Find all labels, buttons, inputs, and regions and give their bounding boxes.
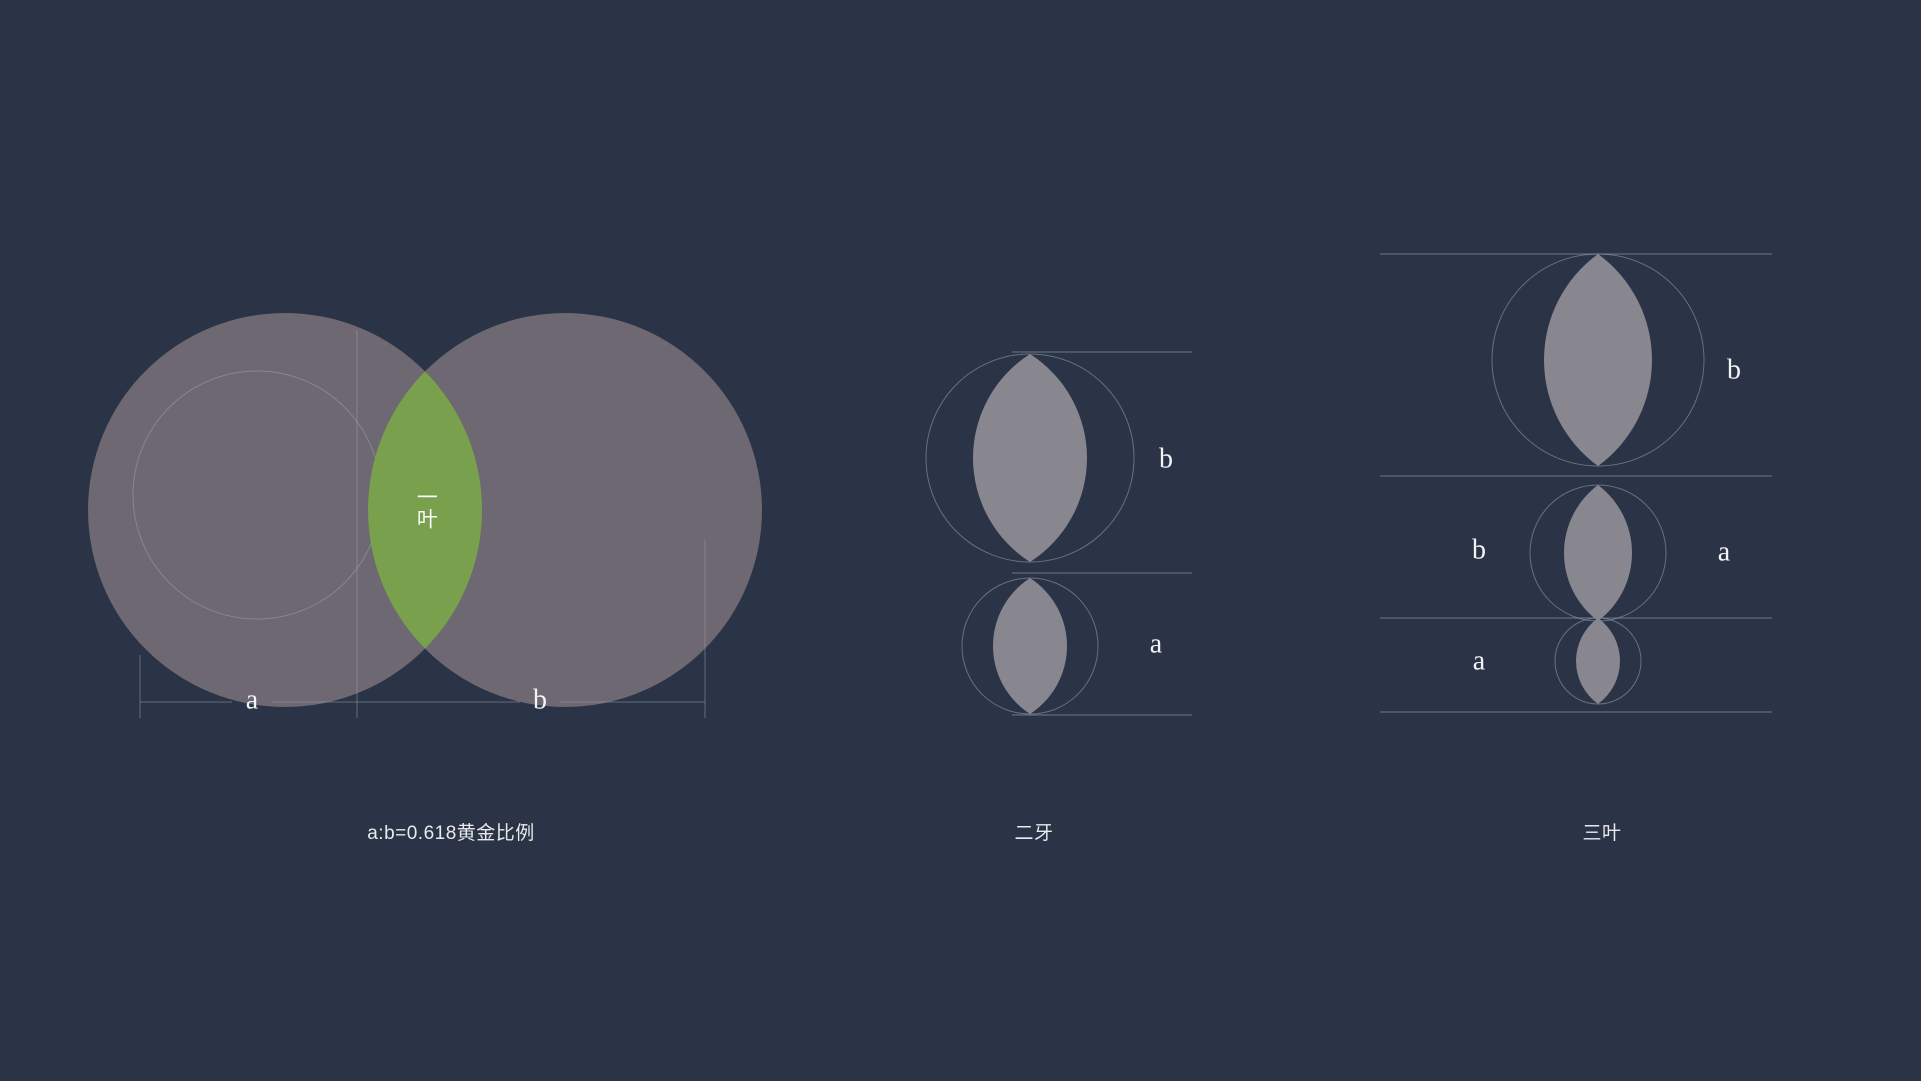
diagram-canvas: abbabbaa 一叶a:b=0.618黄金比例二牙三叶 [0, 0, 1921, 1081]
caption-golden-ratio-construction: a:b=0.618黄金比例 [367, 818, 535, 845]
caption-three-leaf: 三叶 [1582, 818, 1621, 845]
lens-a [993, 578, 1067, 714]
lens-b [1544, 254, 1652, 466]
caption-two-leaf: 二牙 [1014, 818, 1053, 845]
lens-b [973, 354, 1087, 562]
lens-label-golden-ratio-construction: 一叶 [414, 486, 437, 530]
lens-mid [1564, 485, 1632, 621]
dimension-label-b-0: b [1727, 354, 1741, 385]
figure-two-leaf: ba [926, 352, 1192, 715]
dimension-label-a-3: a [1473, 645, 1486, 676]
lens-a [1576, 618, 1620, 704]
dimension-label-a-1: a [1150, 628, 1163, 659]
dimension-label-a-2: a [1718, 536, 1731, 567]
dimension-label-b-1: b [1472, 534, 1486, 565]
figure-three-leaf: bbaa [1380, 254, 1772, 712]
dimension-label-b-0: b [1159, 443, 1173, 474]
geometry-layer: abbabbaa [0, 0, 1921, 1081]
dimension-label-a-0: a [246, 684, 259, 715]
dimension-label-b-1: b [533, 684, 547, 715]
